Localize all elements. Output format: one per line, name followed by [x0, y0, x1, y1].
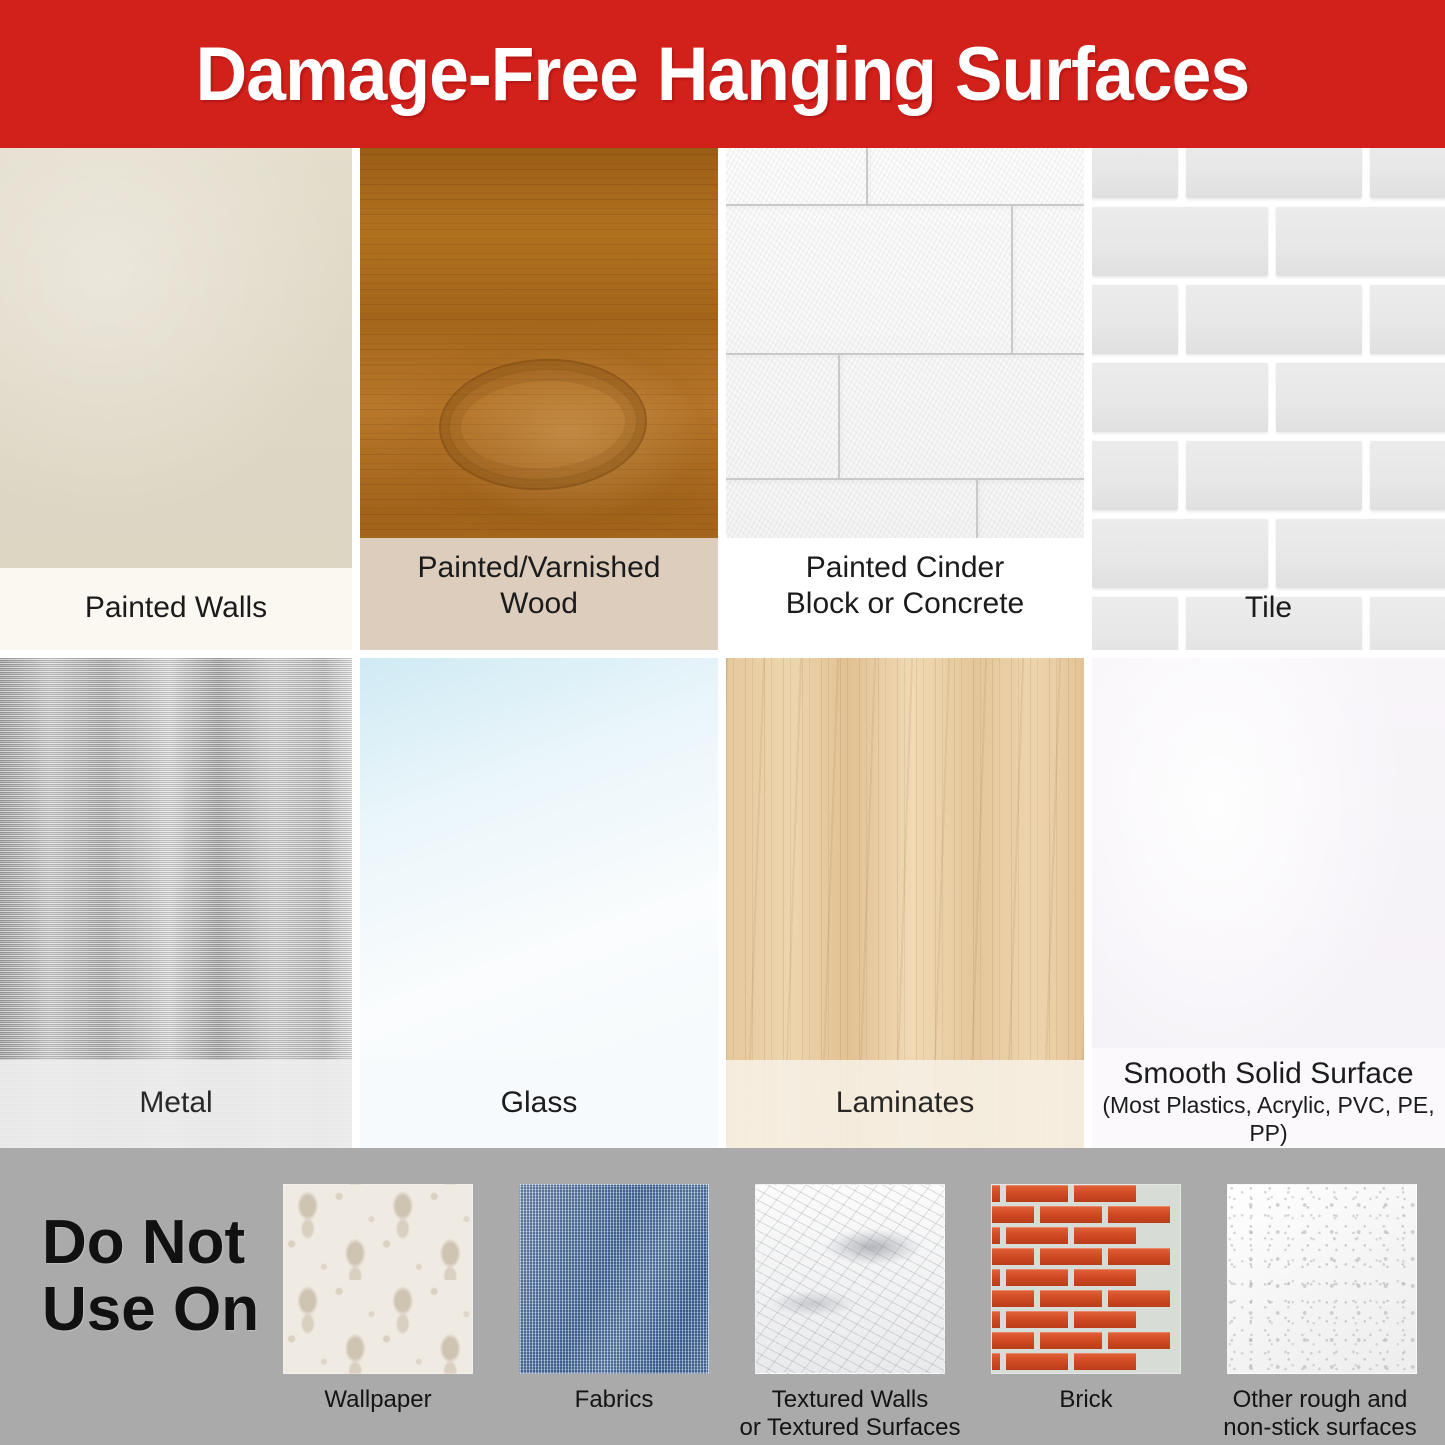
bad-surface-item-other-rough: Other rough and non-stick surfaces: [1227, 1184, 1417, 1442]
bad-surface-label-other-rough: Other rough and non-stick surfaces: [1195, 1386, 1445, 1442]
do-not-use-on-title-line2: Use On: [42, 1277, 292, 1344]
surface-cell-metal: Metal: [0, 658, 352, 1148]
surface-label-line1: Smooth Solid Surface: [1123, 1057, 1413, 1090]
do-not-use-on-section: Do Not Use On Wallpaper Fabrics Textured…: [0, 1148, 1445, 1445]
textured-plaster-swatch: [755, 1184, 945, 1374]
surface-label-smooth-solid-surface: Smooth Solid Surface (Most Plastics, Acr…: [1092, 1048, 1445, 1148]
bad-surface-label-line1: Wallpaper: [324, 1386, 431, 1413]
surface-label-laminates: Laminates: [726, 1060, 1084, 1148]
surface-label-tile: Tile: [1092, 568, 1445, 650]
surface-cell-painted-varnished-wood: Painted/Varnished Wood: [360, 148, 718, 650]
surface-label-metal: Metal: [0, 1060, 352, 1148]
denim-fabric-swatch: [519, 1184, 709, 1374]
bad-surface-label-line1: Textured Walls: [725, 1386, 975, 1414]
infographic-page: Damage-Free Hanging Surfaces Painted Wal…: [0, 0, 1445, 1445]
surface-label-line1: Painted Cinder: [806, 551, 1004, 584]
bad-surface-label-line1: Brick: [1059, 1386, 1112, 1413]
do-not-use-on-title: Do Not Use On: [42, 1210, 292, 1344]
surface-label-painted-cinder-block: Painted Cinder Block or Concrete: [726, 538, 1084, 650]
surface-label-painted-varnished-wood: Painted/Varnished Wood: [360, 538, 718, 650]
bad-surface-label-fabrics: Fabrics: [519, 1386, 709, 1414]
bad-surface-label-line1: Other rough and: [1195, 1386, 1445, 1414]
do-not-use-on-title-line1: Do Not: [42, 1210, 292, 1277]
surface-cell-tile: Tile: [1092, 148, 1445, 650]
rough-stucco-swatch: [1227, 1184, 1417, 1374]
surface-cell-painted-cinder-block: Painted Cinder Block or Concrete: [726, 148, 1084, 650]
bad-surface-label-line1: Fabrics: [575, 1386, 654, 1413]
bad-surface-item-wallpaper: Wallpaper: [283, 1184, 473, 1414]
wood-grain-knot: [435, 353, 649, 494]
bad-surface-label-wallpaper: Wallpaper: [283, 1386, 473, 1414]
bad-surface-label-textured-walls: Textured Walls or Textured Surfaces: [725, 1386, 975, 1442]
bad-surface-item-brick: Brick: [991, 1184, 1181, 1414]
surface-cell-painted-walls: Painted Walls: [0, 148, 352, 650]
surface-cell-glass: Glass: [360, 658, 718, 1148]
page-title: Damage-Free Hanging Surfaces: [196, 31, 1250, 118]
surface-label-line2: Block or Concrete: [732, 586, 1078, 622]
bad-surface-label-line2: non-stick surfaces: [1195, 1414, 1445, 1442]
approved-surfaces-grid: Painted Walls Painted/Varnished Wood: [0, 148, 1445, 1148]
surface-label-line2: Wood: [366, 586, 712, 622]
bad-surface-label-brick: Brick: [991, 1386, 1181, 1414]
wallpaper-damask-swatch: [283, 1184, 473, 1374]
header-banner: Damage-Free Hanging Surfaces: [0, 0, 1445, 148]
surface-label-line1: Painted/Varnished: [418, 551, 661, 584]
red-brick-swatch: [991, 1184, 1181, 1374]
surface-cell-laminates: Laminates: [726, 658, 1084, 1148]
surface-label-glass: Glass: [360, 1060, 718, 1148]
bad-surface-label-line2: or Textured Surfaces: [725, 1414, 975, 1442]
surface-label-sublabel: (Most Plastics, Acrylic, PVC, PE, PP): [1098, 1092, 1439, 1147]
bad-surface-item-fabrics: Fabrics: [519, 1184, 709, 1414]
surface-cell-smooth-solid-surface: Smooth Solid Surface (Most Plastics, Acr…: [1092, 658, 1445, 1148]
surface-label-painted-walls: Painted Walls: [0, 568, 352, 650]
bad-surface-item-textured-walls: Textured Walls or Textured Surfaces: [755, 1184, 945, 1442]
